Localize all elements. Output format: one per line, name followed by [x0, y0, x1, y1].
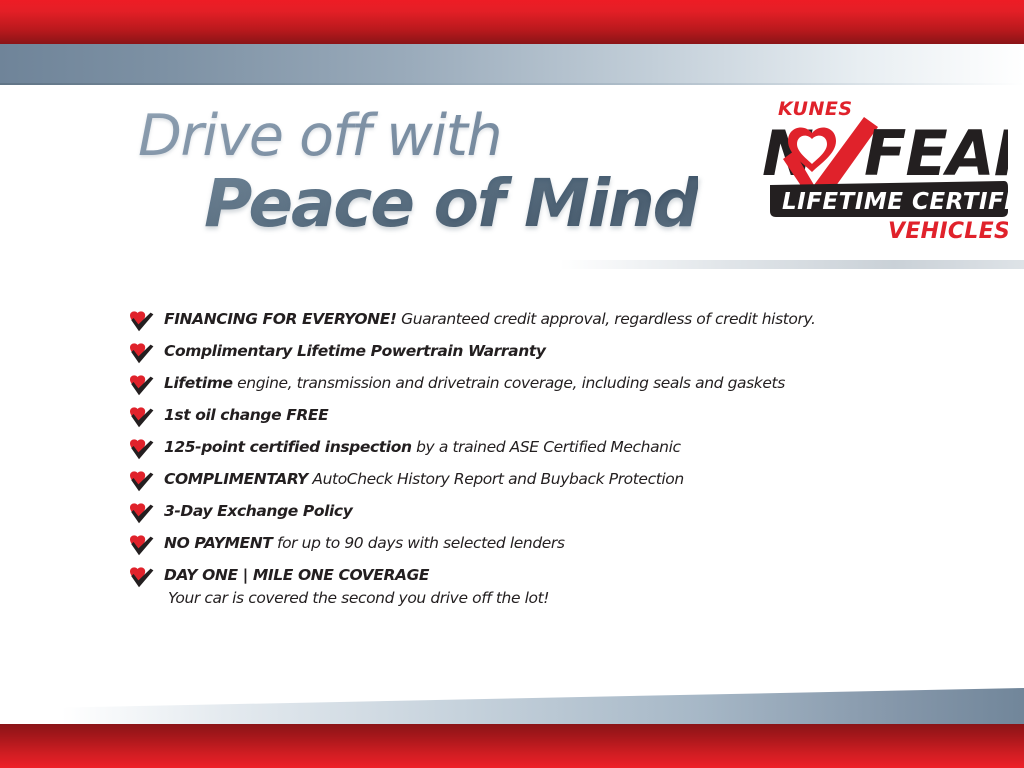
- feature-item: NO PAYMENT for up to 90 days with select…: [128, 532, 968, 564]
- feature-bold-text: 3-Day Exchange Policy: [164, 502, 352, 520]
- feature-item: DAY ONE | MILE ONE COVERAGEYour car is c…: [128, 564, 968, 618]
- feature-bold-text: COMPLIMENTARY: [164, 470, 308, 488]
- check-heart-bullet-icon: [128, 535, 155, 556]
- feature-item: 125-point certified inspection by a trai…: [128, 436, 968, 468]
- headline-line-1: Drive off with: [138, 108, 698, 165]
- bottom-gray-gradient-band: [0, 688, 1024, 724]
- feature-bold-text: FINANCING FOR EVERYONE!: [164, 310, 397, 328]
- headline-line-2: Peace of Mind: [204, 171, 698, 237]
- top-gray-gradient-band: [0, 44, 1024, 85]
- feature-text: FINANCING FOR EVERYONE! Guaranteed credi…: [164, 308, 968, 330]
- feature-item: 3-Day Exchange Policy: [128, 500, 968, 532]
- advertisement-banner: Drive off with Peace of Mind KUNES N FEA…: [0, 0, 1024, 768]
- feature-item: COMPLIMENTARY AutoCheck History Report a…: [128, 468, 968, 500]
- check-heart-bullet-icon: [128, 471, 155, 492]
- feature-detail-text: by a trained ASE Certified Mechanic: [412, 438, 681, 456]
- check-heart-bullet-icon: [128, 407, 155, 428]
- feature-text: 125-point certified inspection by a trai…: [164, 436, 968, 458]
- feature-detail-text: for up to 90 days with selected lenders: [272, 534, 564, 552]
- check-heart-bullet-icon: [128, 311, 155, 332]
- feature-item: FINANCING FOR EVERYONE! Guaranteed credi…: [128, 308, 968, 340]
- feature-text: COMPLIMENTARY AutoCheck History Report a…: [164, 468, 968, 490]
- feature-text: 1st oil change FREE: [164, 404, 968, 426]
- feature-bold-text: 1st oil change FREE: [164, 406, 328, 424]
- header-section: Drive off with Peace of Mind KUNES N FEA…: [0, 85, 1024, 265]
- check-heart-bullet-icon: [128, 503, 155, 524]
- logo-vehicles-text: VEHICLES: [888, 219, 1008, 241]
- check-heart-bullet-icon: [128, 343, 155, 364]
- feature-bold-text: DAY ONE | MILE ONE COVERAGE: [164, 566, 429, 584]
- feature-bold-text: Complimentary Lifetime Powertrain Warran…: [164, 342, 546, 360]
- feature-text: Complimentary Lifetime Powertrain Warran…: [164, 340, 968, 362]
- headline: Drive off with Peace of Mind: [138, 108, 698, 237]
- feature-text: NO PAYMENT for up to 90 days with select…: [164, 532, 968, 554]
- feature-text: DAY ONE | MILE ONE COVERAGE: [164, 564, 968, 586]
- feature-item: Lifetime engine, transmission and drivet…: [128, 372, 968, 404]
- feature-item: 1st oil change FREE: [128, 404, 968, 436]
- features-list: FINANCING FOR EVERYONE! Guaranteed credi…: [128, 308, 968, 618]
- feature-item: Complimentary Lifetime Powertrain Warran…: [128, 340, 968, 372]
- feature-detail-text: AutoCheck History Report and Buyback Pro…: [308, 470, 684, 488]
- feature-subtext: Your car is covered the second you drive…: [168, 587, 968, 609]
- logo-word-fear: FEAR: [864, 117, 1008, 190]
- feature-detail-text: engine, transmission and drivetrain cove…: [233, 374, 785, 392]
- kunes-no-fear-logo: KUNES N FEAR LIFETIME CERTIFIED VEHICLES: [756, 93, 1008, 241]
- feature-bold-text: NO PAYMENT: [164, 534, 272, 552]
- feature-text: Lifetime engine, transmission and drivet…: [164, 372, 968, 394]
- header-divider-rule: [560, 260, 1024, 269]
- feature-bold-text: 125-point certified inspection: [164, 438, 412, 456]
- logo-artwork: KUNES N FEAR LIFETIME CERTIFIED VEHICLES: [756, 93, 1008, 241]
- feature-detail-text: Guaranteed credit approval, regardless o…: [397, 310, 816, 328]
- logo-bar-text: LIFETIME CERTIFIED: [782, 189, 1008, 215]
- top-red-band: [0, 0, 1024, 44]
- bottom-red-band: [0, 724, 1024, 768]
- check-heart-bullet-icon: [128, 439, 155, 460]
- feature-text: 3-Day Exchange Policy: [164, 500, 968, 522]
- check-heart-bullet-icon: [128, 567, 155, 588]
- check-heart-bullet-icon: [128, 375, 155, 396]
- feature-bold-text: Lifetime: [164, 374, 233, 392]
